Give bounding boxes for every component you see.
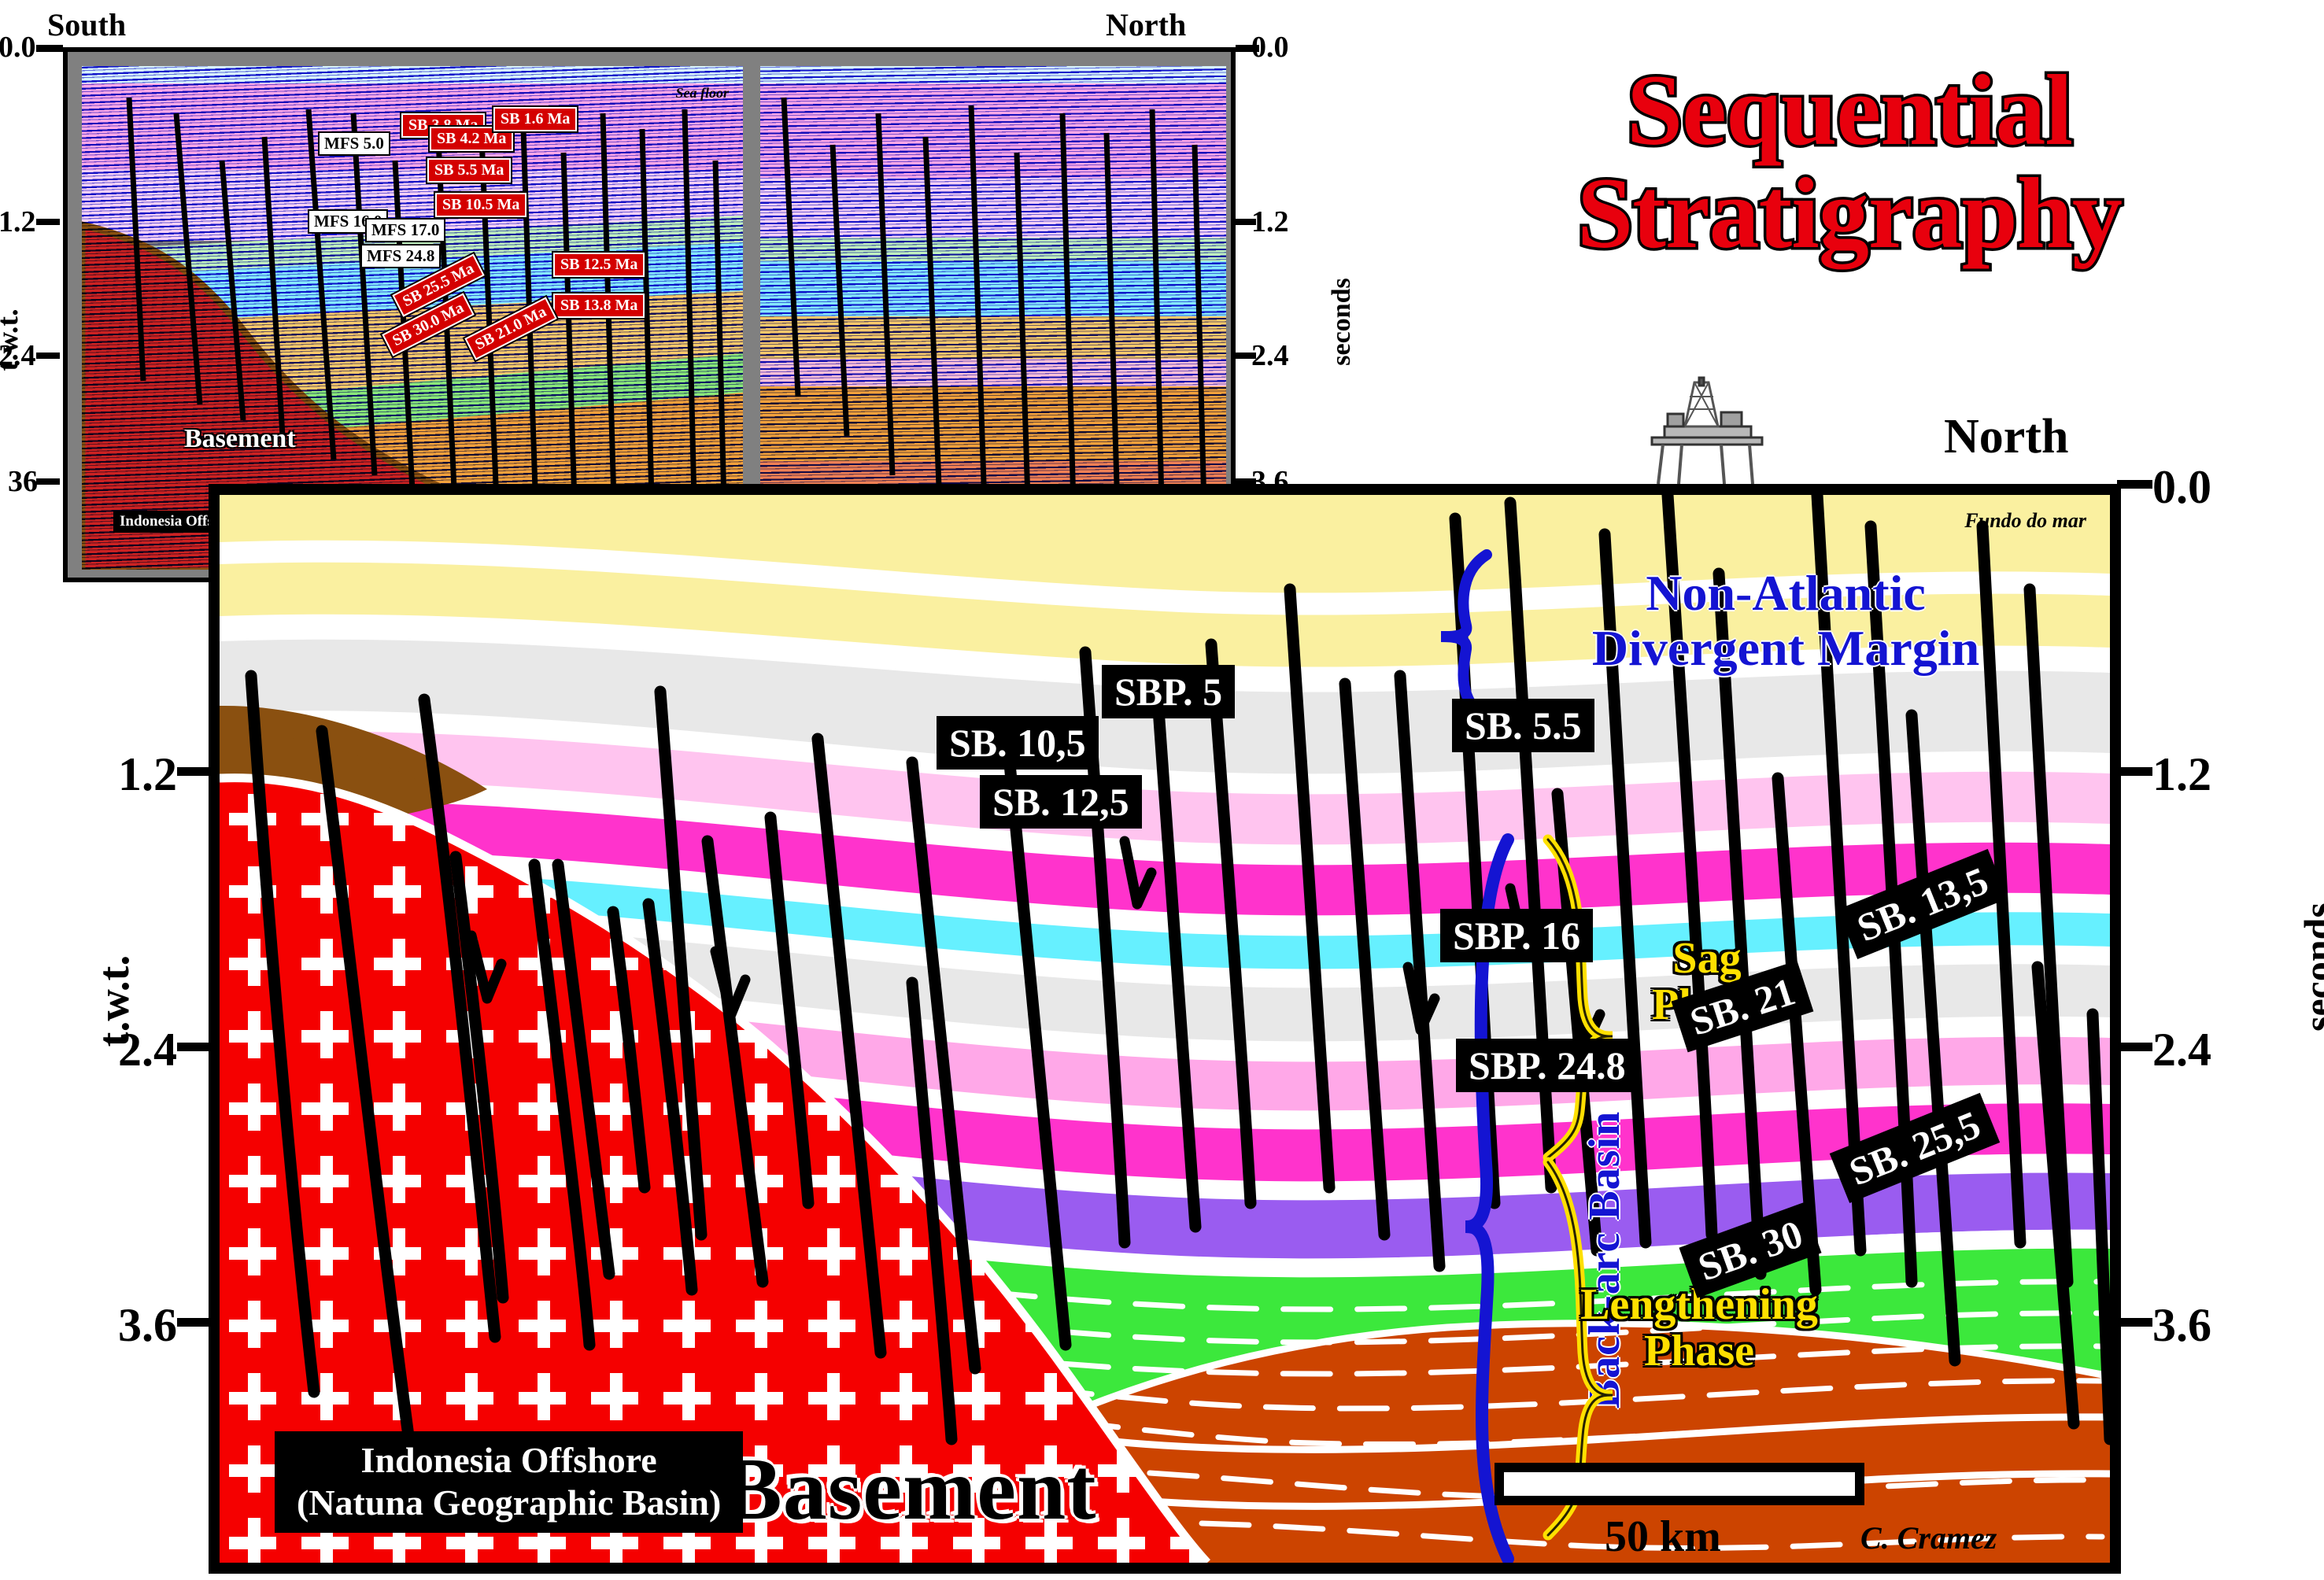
main-axis-left-name: t.w.t.	[89, 930, 139, 1072]
main-axis-right-tick-0: 0.0	[2152, 460, 2211, 515]
divergent-margin-label: Non-Atlantic Divergent Margin	[1495, 566, 2077, 677]
main-axis-right-tick-3: 3.6	[2152, 1298, 2211, 1353]
main-location-line2: (Natuna Geographic Basin)	[297, 1482, 721, 1523]
inset-mfs-label: MFS 17.0	[365, 218, 445, 242]
inset-direction-south: South	[47, 6, 126, 43]
main-scale-label: 50 km	[1605, 1512, 1721, 1562]
inset-sb-label: SB 13.8 Ma	[553, 293, 645, 318]
main-location-label: Indonesia Offshore (Natuna Geographic Ba…	[275, 1431, 743, 1533]
main-axis-right-tick-1: 1.2	[2152, 748, 2211, 802]
main-axis-left-tick-3: 3.6	[118, 1298, 177, 1353]
inset-axis-right-name: seconds	[1327, 259, 1357, 385]
divergent-margin-line2: Divergent Margin	[1592, 620, 1979, 676]
main-seafloor-label: Fundo do mar	[1964, 509, 2086, 533]
main-location-line1: Indonesia Offshore	[361, 1440, 657, 1480]
main-sb-label: SB. 12,5	[980, 775, 1142, 829]
inset-direction-north: North	[1106, 6, 1186, 43]
main-credit-label: C. Cramez	[1860, 1519, 1997, 1556]
inset-sb-label: SB 12.5 Ma	[553, 253, 645, 277]
main-sb-label: SB. 5.5	[1452, 699, 1594, 752]
oil-rig-icon	[1633, 378, 1775, 488]
page-title: Sequential Stratigraphy	[1495, 59, 2204, 264]
main-basement-label: Basement	[723, 1439, 1097, 1541]
main-sb-label: SB. 10,5	[937, 716, 1099, 770]
main-axis-right-name: seconds	[2295, 869, 2324, 1065]
inset-mfs-label: MFS 5.0	[318, 131, 390, 156]
main-direction-north: North	[1944, 409, 2068, 465]
main-sb-label: SBP. 16	[1440, 909, 1593, 962]
inset-sb-label: SB 1.6 Ma	[493, 107, 577, 131]
inset-axis-left-tick-1: 1.2	[0, 205, 36, 239]
inset-axis-left-name: t.w.t.	[0, 293, 25, 387]
sag-phase-line1: Sag	[1672, 934, 1741, 983]
main-sb-label: SBP. 24.8	[1456, 1039, 1639, 1092]
divergent-margin-line1: Non-Atlantic	[1646, 565, 1926, 621]
inset-axis-right-tick-2: 2.4	[1251, 338, 1289, 373]
inset-sb-label: SB 10.5 Ma	[435, 193, 527, 217]
main-axis-right-tick-2: 2.4	[2152, 1023, 2211, 1077]
page-title-line1: Sequential	[1495, 59, 2204, 162]
main-scalebar	[1495, 1463, 1864, 1505]
inset-basement-label: Basement	[184, 424, 296, 454]
inset-mfs-label: MFS 24.8	[360, 244, 441, 268]
main-axis-left-tick-1: 1.2	[118, 748, 177, 802]
lengthening-phase-line2: Phase	[1644, 1327, 1754, 1375]
main-frame: Back-arc Basin Sag Phase Lengthening Pha…	[209, 484, 2121, 1574]
inset-axis-left-tick-0: 0.0	[0, 30, 36, 65]
inset-axis-left-tick-3: 36	[8, 464, 38, 499]
inset-axis-right-tick-1: 1.2	[1251, 205, 1289, 239]
inset-seafloor-label: Sea floor	[676, 85, 730, 102]
page-title-line2: Stratigraphy	[1495, 162, 2204, 265]
main-sb-label: SBP. 5	[1102, 665, 1235, 718]
inset-sb-label: SB 5.5 Ma	[427, 158, 511, 183]
